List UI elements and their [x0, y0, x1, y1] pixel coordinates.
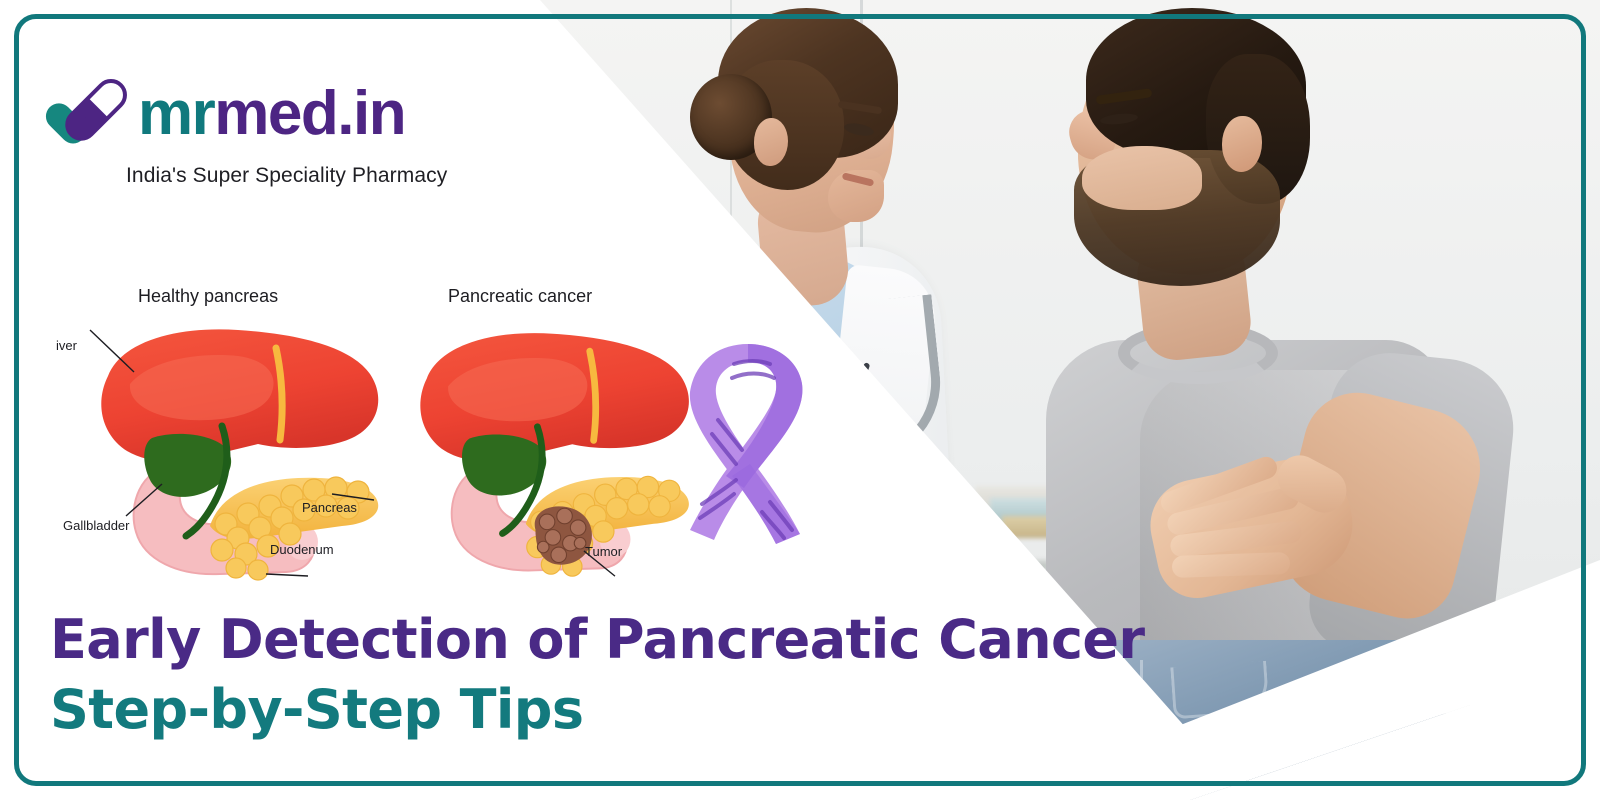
label-tumor: Tumor: [585, 544, 622, 559]
liver-leader-line: [90, 330, 134, 372]
brand-logo[interactable]: mrmed.in India's Super Speciality Pharma…: [38, 78, 447, 188]
label-gallbladder: Gallbladder: [63, 518, 130, 533]
awareness-ribbon-icon: [670, 334, 830, 549]
headline-line-1: Early Detection of Pancreatic Cancer: [50, 608, 1144, 672]
logo-text-med: med.in: [214, 79, 405, 148]
headline-block: Early Detection of Pancreatic Cancer Ste…: [50, 608, 1144, 741]
label-pancreas: Pancreas: [302, 500, 357, 515]
label-duodenum: Duodenum: [270, 542, 334, 557]
duodenum-leader-line: [266, 574, 308, 576]
checkmark-capsule-icon: [38, 78, 130, 150]
healthy-pancreas-diagram: [70, 318, 400, 588]
pancreatic-cancer-diagram: [390, 318, 710, 588]
anatomy-illustration: Healthy pancreas Pancreatic cancer: [30, 278, 830, 578]
brand-tagline: India's Super Speciality Pharmacy: [126, 164, 447, 188]
patient-cheek: [1082, 146, 1202, 210]
logo-text-mr: mr: [138, 79, 214, 148]
patient-finger: [1172, 552, 1291, 578]
tumor-shape: [535, 506, 592, 564]
ribbon-front-strand: [726, 344, 802, 488]
ribbon-tail-right: [732, 464, 800, 544]
healthy-pancreas-title: Healthy pancreas: [138, 286, 278, 307]
pancreatic-cancer-title: Pancreatic cancer: [448, 286, 592, 307]
banner-root: mrmed.in India's Super Speciality Pharma…: [0, 0, 1600, 800]
headline-line-2: Step-by-Step Tips: [50, 678, 1144, 742]
label-liver: iver: [56, 338, 77, 353]
